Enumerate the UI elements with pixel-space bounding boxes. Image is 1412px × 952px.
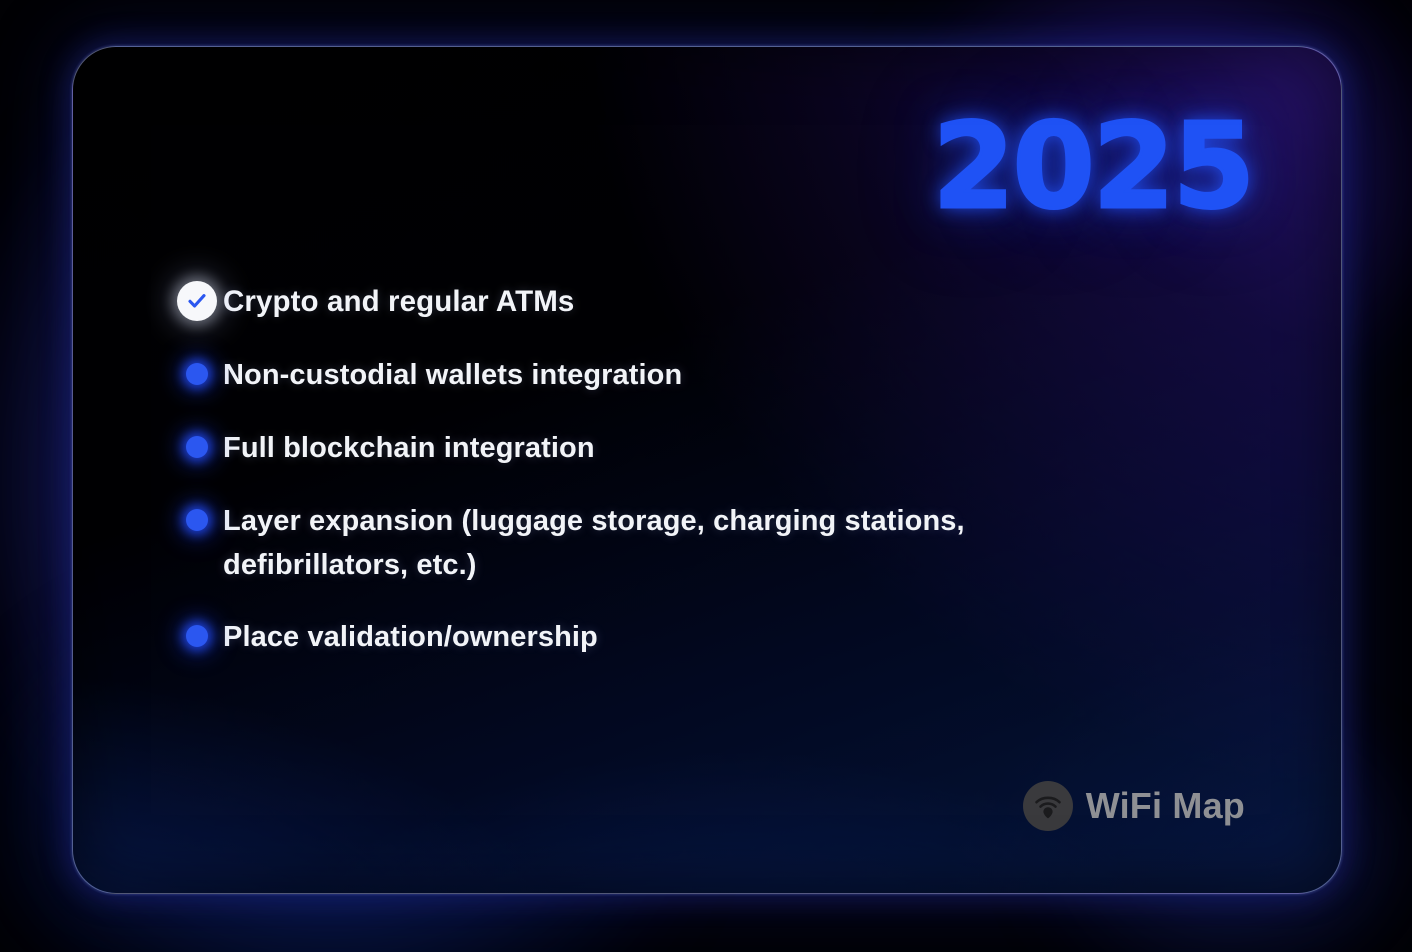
bullet-dot-icon — [186, 625, 208, 647]
brand-logo: WiFi Map — [1023, 781, 1245, 831]
list-item[interactable]: Layer expansion (luggage storage, chargi… — [171, 498, 1211, 587]
bullet-dot-icon — [186, 509, 208, 531]
list-item-label: Layer expansion (luggage storage, chargi… — [223, 498, 965, 587]
marker-slot — [171, 425, 223, 471]
bullet-dot-icon — [186, 363, 208, 385]
list-item[interactable]: Crypto and regular ATMs — [171, 279, 1211, 325]
marker-slot — [171, 352, 223, 398]
wifi-pin-icon — [1023, 781, 1073, 831]
bullet-dot-icon — [186, 436, 208, 458]
list-item-label: Full blockchain integration — [223, 425, 595, 470]
slide-stage: 2025 Crypto and regular ATMs Non-custodi… — [0, 0, 1412, 952]
marker-slot — [171, 614, 223, 660]
roadmap-list: Crypto and regular ATMs Non-custodial wa… — [171, 279, 1211, 660]
list-item-label: Non-custodial wallets integration — [223, 352, 682, 397]
brand-name: WiFi Map — [1086, 785, 1245, 827]
list-item[interactable]: Place validation/ownership — [171, 614, 1211, 660]
list-item[interactable]: Non-custodial wallets integration — [171, 352, 1211, 398]
check-circle-icon — [177, 281, 217, 321]
list-item-label: Place validation/ownership — [223, 614, 598, 659]
marker-slot — [171, 498, 223, 544]
marker-slot — [171, 279, 223, 325]
list-item[interactable]: Full blockchain integration — [171, 425, 1211, 471]
roadmap-card: 2025 Crypto and regular ATMs Non-custodi… — [72, 46, 1342, 894]
list-item-label: Crypto and regular ATMs — [223, 279, 574, 325]
year-heading: 2025 — [933, 107, 1253, 225]
